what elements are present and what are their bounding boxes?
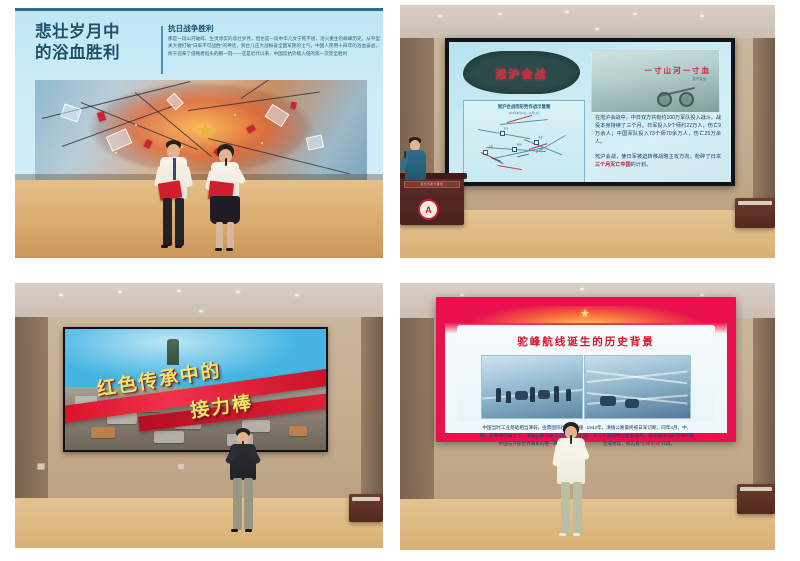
slide-4-surface: ★ 驼峰航线诞生的历史背景 — [445, 306, 727, 433]
lectern: 红色传承大讲堂 A — [400, 177, 464, 225]
slide-4-card: 驼峰航线诞生的历史背景 — [457, 325, 715, 422]
right-wall-panel — [753, 38, 776, 210]
soldier-silhouette — [167, 339, 179, 365]
slide-1-title: 悲壮岁月中的浴血胜利 — [35, 22, 145, 64]
panel-bottom-left[interactable]: 红色传承中的 接力棒 — [15, 283, 383, 548]
slide-1-body-text: 那是一段山河破碎、生灵涂炭的悲壮岁月，但也是一段中华儿女宁死不屈、浴火重生的峥嵘… — [168, 35, 380, 57]
slide-2-photo-caption-sub: 淞沪会战 — [692, 76, 706, 81]
microphone — [225, 158, 227, 166]
slide-2-photo-caption: 一寸山河一寸血 — [645, 65, 712, 76]
map-title: 淞沪会战而形势作战示意图 — [464, 104, 584, 110]
golden-star-icon: ★ — [194, 120, 216, 142]
panel-1-stage-floor — [15, 180, 383, 258]
slide-1-heading: 抗日战争胜利 — [168, 23, 380, 34]
slide-4-caption-right: 1942年，滇缅公路最终被日军切断。同年4月，中、美、英三大盟国经过反复磋商，就… — [583, 424, 695, 448]
slide-4-highlight: 驼峰航线 — [641, 441, 659, 446]
speaker-male-panel-3 — [225, 428, 261, 536]
floor — [15, 498, 383, 548]
slide-2-banner-title: 淞沪会战 — [463, 66, 580, 82]
side-equipment-desk — [349, 494, 383, 522]
slide-2-highlight: 三个月灭亡中国 — [595, 162, 631, 168]
slide-2-photo: 一寸山河一寸血 淞沪会战 — [591, 50, 720, 113]
ceiling — [400, 5, 775, 40]
microphone — [570, 435, 572, 444]
slide-2-battle-map: 淞沪会战而形势作战示意图 1937年8月13日—11月12日 — [463, 100, 585, 182]
slide-2-banner: 淞沪会战 — [463, 51, 580, 94]
star-icon: ★ — [580, 307, 590, 320]
panel-bottom-right[interactable]: ★ 驼峰航线诞生的历史背景 — [400, 283, 775, 550]
slide-4-photo-right — [584, 355, 691, 419]
slide-2-paragraph-2: 淞沪会战，使日军被迫转移战略主攻方向，粉碎了日本三个月灭亡中国的计划。 — [595, 153, 721, 169]
slide-2-paragraph-1: 在淞沪会战中，中日双方共有约100万军队投入战斗。战役本身持续了三个月。日军投入… — [595, 114, 721, 146]
slide-3-surface: 红色传承中的 接力棒 — [65, 329, 326, 450]
microphone — [242, 441, 244, 449]
slide-4-title: 驼峰航线诞生的历史背景 — [457, 334, 715, 349]
panel-top-left[interactable]: 悲壮岁月中的浴血胜利 抗日战争胜利 那是一段山河破碎、生灵涂炭的悲壮岁月，但也是… — [15, 8, 383, 258]
microphone — [404, 151, 406, 158]
right-wall-panel — [753, 318, 776, 500]
slide-2-surface: 淞沪会战 一寸山河一寸血 淞沪会战 淞沪会战而形势作战示意图 1937年8月13… — [449, 42, 731, 182]
lectern-emblem: A — [418, 199, 439, 220]
slide-4-photo-left — [481, 355, 583, 419]
map-subtitle: 1937年8月13日—11月12日 — [464, 111, 584, 115]
slide-1-artwork: ★ — [35, 80, 367, 180]
projection-screen-2[interactable]: 淞沪会战 一寸山河一寸血 淞沪会战 淞沪会战而形势作战示意图 1937年8月13… — [445, 38, 735, 186]
slide-1-top-rule — [15, 8, 383, 11]
right-wall-panel — [361, 317, 383, 497]
panel-top-right[interactable]: 淞沪会战 一寸山河一寸血 淞沪会战 淞沪会战而形势作战示意图 1937年8月13… — [400, 5, 775, 258]
ceiling — [15, 283, 383, 320]
projection-screen-3[interactable]: 红色传承中的 接力棒 — [63, 327, 328, 452]
projection-screen-4[interactable]: ★ 驼峰航线诞生的历史背景 — [436, 297, 736, 442]
left-wall-panel — [15, 317, 48, 497]
side-equipment-desk — [737, 484, 775, 514]
left-wall-panel — [400, 318, 434, 500]
host-female — [203, 144, 249, 254]
slide-1-divider — [161, 26, 163, 74]
photo-collage: 悲壮岁月中的浴血胜利 抗日战争胜利 那是一段山河破碎、生灵涂炭的悲壮岁月，但也是… — [0, 0, 800, 561]
host-male — [153, 140, 195, 252]
slide-2-text-block: 在淞沪会战中，中日双方共有约100万军队投入战斗。战役本身持续了三个月。日军投入… — [595, 114, 721, 176]
speaker-female-panel-4 — [552, 422, 590, 540]
slide-1-surface: 悲壮岁月中的浴血胜利 抗日战争胜利 那是一段山河破碎、生灵涂炭的悲壮岁月，但也是… — [15, 8, 383, 258]
side-equipment-desk — [735, 198, 775, 228]
artillery-illustration — [653, 89, 705, 107]
speaker-male-panel-2 — [401, 137, 431, 183]
